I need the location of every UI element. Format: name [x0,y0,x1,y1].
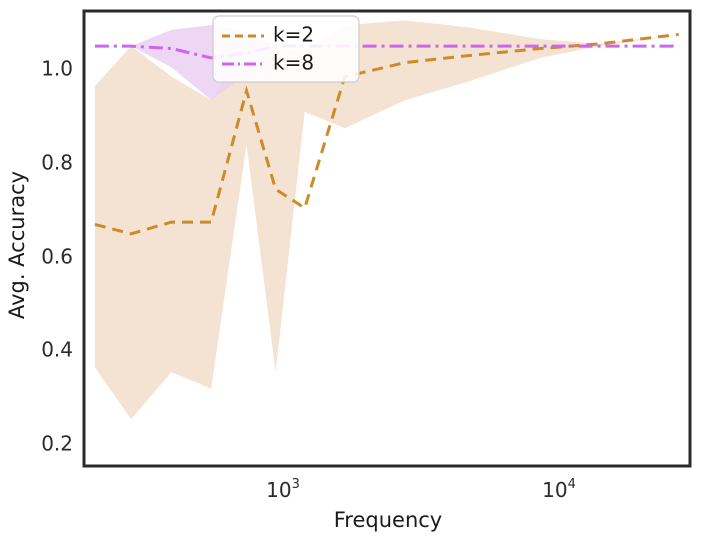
y-tick-0.4: 0.4 [41,338,73,362]
x-tick-1e4: 104 [542,477,576,502]
x-tick-labels: 103 104 [266,477,576,502]
chart-plot: 1.0 0.8 0.6 0.4 0.2 103 104 Frequency Av… [0,0,706,540]
legend-label-k2: k=2 [273,23,314,47]
y-tick-0.2: 0.2 [41,432,73,456]
y-tick-0.6: 0.6 [41,245,73,269]
y-axis-title: Avg. Accuracy [5,171,29,319]
x-tick-1e3: 103 [266,477,300,502]
x-tick-1e4-mantissa: 10 [542,478,567,502]
figure-canvas: 1.0 0.8 0.6 0.4 0.2 103 104 Frequency Av… [0,0,706,540]
y-tick-labels: 1.0 0.8 0.6 0.4 0.2 [41,57,73,456]
x-tick-1e4-exponent: 4 [568,477,576,492]
x-tick-1e3-mantissa: 10 [266,478,291,502]
x-tick-1e3-exponent: 3 [292,477,300,492]
legend[interactable]: k=2 k=8 [213,16,359,82]
x-axis-title: Frequency [334,508,443,532]
legend-label-k8: k=8 [273,51,314,75]
y-tick-0.8: 0.8 [41,151,73,175]
y-tick-1.0: 1.0 [41,57,73,81]
